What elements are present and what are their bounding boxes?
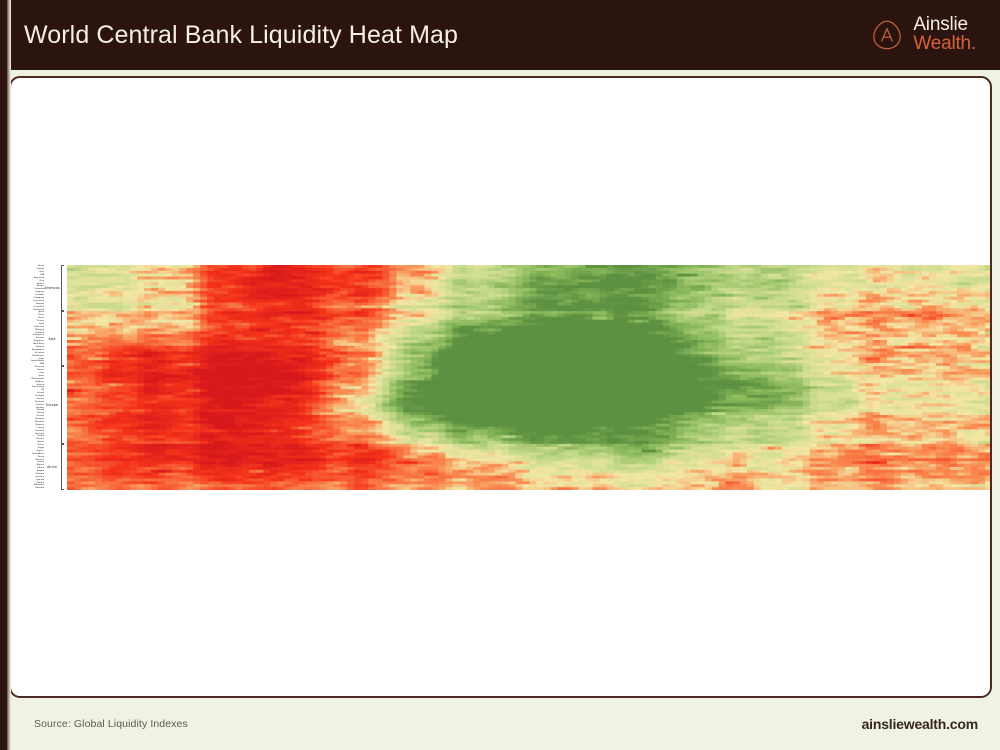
y-tick-label: Japan <box>38 311 44 313</box>
y-tick-label: Peru <box>39 280 44 282</box>
region-group-label: Asia <box>48 337 55 341</box>
brand-logo[interactable]: Ainslie Wealth. <box>870 16 976 53</box>
chart-card: BrazilCanadaChileUSAArgentinaPeruBolivia… <box>9 76 992 698</box>
y-tick-label: Kenya <box>38 456 44 458</box>
y-tick-label: Slovakia <box>35 430 44 432</box>
y-tick-label: Ireland <box>37 392 44 394</box>
y-tick-label: Pakistan <box>35 346 44 348</box>
y-tick-label: Algeria <box>37 464 44 466</box>
y-tick-label: Turkey <box>37 444 44 446</box>
y-tick-label: Sri Lanka <box>35 352 44 354</box>
group-bracket <box>61 311 64 366</box>
y-tick-label: Morocco <box>35 459 44 461</box>
y-tick-label: Uruguay <box>35 291 44 293</box>
y-tick-label: Costa Rica <box>33 306 44 308</box>
group-bracket <box>61 265 64 311</box>
y-tick-label: Uganda <box>36 479 44 481</box>
y-tick-label: Thailand <box>35 332 44 334</box>
y-tick-label: Netherlands <box>32 378 44 380</box>
y-tick-label: Venezuela <box>33 300 44 302</box>
heatmap-plot-block: BrazilCanadaChileUSAArgentinaPeruBolivia… <box>26 265 992 490</box>
y-axis-tick-labels: BrazilCanadaChileUSAArgentinaPeruBolivia… <box>26 265 45 490</box>
ainslie-a-mark-icon <box>870 18 904 52</box>
group-bracket <box>61 444 64 490</box>
y-tick-label: Bolivia <box>37 283 44 285</box>
y-tick-label: Denmark <box>35 401 44 403</box>
y-tick-label: Hong Kong <box>33 343 44 345</box>
brand-name-line2: Wealth. <box>913 35 976 54</box>
website-url[interactable]: ainsliewealth.com <box>862 716 978 732</box>
y-tick-label: Paraguay <box>34 297 44 299</box>
y-tick-label: Malaysia <box>35 329 44 331</box>
y-tick-label: Indonesia <box>34 326 44 328</box>
y-tick-label: Hungary <box>35 418 44 420</box>
y-tick-label: Ghana <box>37 467 44 469</box>
group-bracket <box>61 366 64 444</box>
page-title: World Central Bank Liquidity Heat Map <box>24 23 458 48</box>
y-tick-label: Angola <box>37 470 44 472</box>
y-tick-label: Czechia <box>36 415 44 417</box>
y-tick-label: Tanzania <box>35 476 44 478</box>
y-tick-label: Botswana <box>34 484 44 486</box>
y-tick-label: Italy <box>40 372 44 374</box>
y-axis-group-labels: AmericasAsiaEuropeAfrica <box>45 265 66 490</box>
y-tick-label: Taiwan <box>37 320 44 322</box>
y-tick-label: Korea <box>38 317 44 319</box>
figure-canvas: BrazilCanadaChileUSAArgentinaPeruBolivia… <box>11 78 990 696</box>
y-tick-label: Namibia <box>36 487 44 489</box>
y-tick-label: Egypt <box>38 447 44 449</box>
y-tick-label: Germany <box>35 366 44 368</box>
y-tick-label: Portugal <box>36 395 44 397</box>
y-tick-label: Bangladesh <box>32 349 44 351</box>
y-tick-label: Argentina <box>34 277 44 279</box>
page-footer: Source: Global Liquidity Indexes ainslie… <box>0 698 1000 750</box>
liquidity-heatmap-canvas[interactable] <box>67 265 992 490</box>
y-tick-label: Croatia <box>37 427 44 429</box>
y-tick-label: Kazakhstan <box>32 355 44 357</box>
y-tick-label: China <box>38 314 44 316</box>
region-group-label: Americas <box>44 286 60 290</box>
page-left-edge-fade <box>7 0 11 750</box>
y-tick-label: Finland <box>37 409 44 411</box>
chart-card-wrapper: BrazilCanadaChileUSAArgentinaPeruBolivia… <box>0 70 1000 698</box>
y-tick-label: Romania <box>35 421 44 423</box>
source-note: Source: Global Liquidity Indexes <box>34 718 188 730</box>
y-tick-label: Ukraine <box>36 438 44 440</box>
y-tick-label: Poland <box>37 412 44 414</box>
y-tick-label: Canada <box>36 268 44 270</box>
y-tick-label: Belgium <box>36 381 44 383</box>
y-tick-label: Singapore <box>34 340 44 342</box>
y-tick-label: UK <box>41 389 44 391</box>
y-tick-label: Russia <box>37 441 44 443</box>
y-tick-label: South Africa <box>32 453 44 455</box>
y-tick-label: Chile <box>39 271 44 273</box>
region-group-label: Europe <box>46 403 58 407</box>
region-group-label: Africa <box>47 465 57 469</box>
page-header: World Central Bank Liquidity Heat Map Ai… <box>0 0 1000 70</box>
y-tick-label: Panama <box>36 303 44 305</box>
y-tick-label: Ethiopia <box>36 473 44 475</box>
y-tick-label: Guatemala <box>33 309 44 311</box>
y-tick-label: Mexico <box>37 285 44 287</box>
page-left-edge <box>0 0 7 750</box>
y-tick-label: Brazil <box>38 265 44 267</box>
y-tick-label: Bulgaria <box>36 424 45 426</box>
y-tick-label: India <box>39 323 44 325</box>
y-tick-label: Ecuador <box>36 294 44 296</box>
brand-wordmark: Ainslie Wealth. <box>913 16 976 53</box>
y-tick-label: Nigeria <box>37 450 44 452</box>
y-tick-label: USA <box>40 274 44 276</box>
y-tick-label: Switzerland <box>32 386 44 388</box>
y-tick-label: Greece <box>37 398 44 400</box>
slide-page: World Central Bank Liquidity Heat Map Ai… <box>0 0 1000 750</box>
y-tick-label: Sweden <box>36 404 44 406</box>
heatmap-area[interactable] <box>67 265 992 490</box>
y-tick-label: France <box>37 369 44 371</box>
y-tick-label: Norway <box>36 407 44 409</box>
y-tick-label: Spain <box>38 375 44 377</box>
